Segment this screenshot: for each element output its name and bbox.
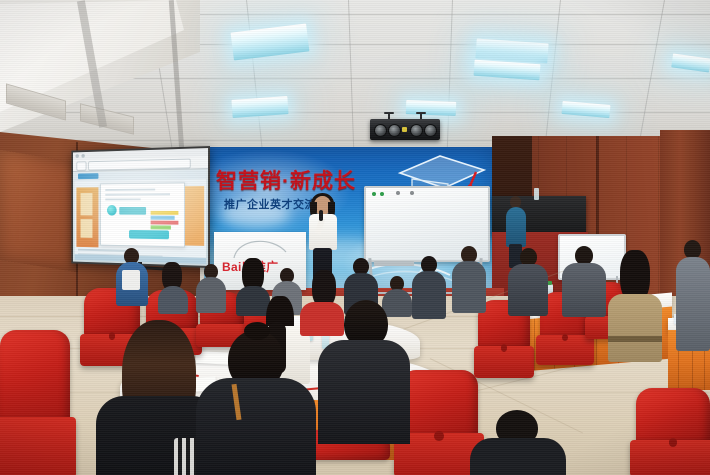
attendee (196, 264, 226, 312)
attendee (676, 240, 710, 350)
left-wall-panel (0, 150, 78, 272)
attendee (116, 248, 148, 306)
attendee (508, 248, 548, 314)
ceiling-light-panel (406, 100, 456, 116)
ceiling-spotlight-bar (370, 119, 440, 140)
ceiling-light-panel (231, 96, 288, 118)
attendee-foreground-far-right (470, 410, 566, 475)
chair (0, 330, 70, 475)
ceiling-light-panel (671, 53, 710, 72)
attendee (562, 246, 606, 314)
ceiling-light-panel (562, 101, 611, 118)
chair (636, 388, 710, 475)
microphone-icon (319, 210, 323, 221)
attendee-foreground-center (196, 330, 316, 475)
attendee (158, 262, 188, 312)
attendee (452, 246, 486, 312)
attendee-foreground-right (318, 300, 410, 442)
flipchart-curve (232, 234, 290, 260)
attendee (412, 256, 446, 318)
ceiling-vent (80, 103, 134, 134)
ceiling (0, 0, 710, 152)
conference-room-photo: 智营销·新成长 推广企业英才交流会 (0, 0, 710, 475)
ceiling-light-panel (231, 23, 310, 60)
av-bottle (534, 188, 539, 200)
chair-foreground (400, 370, 478, 475)
attendee (608, 250, 662, 360)
